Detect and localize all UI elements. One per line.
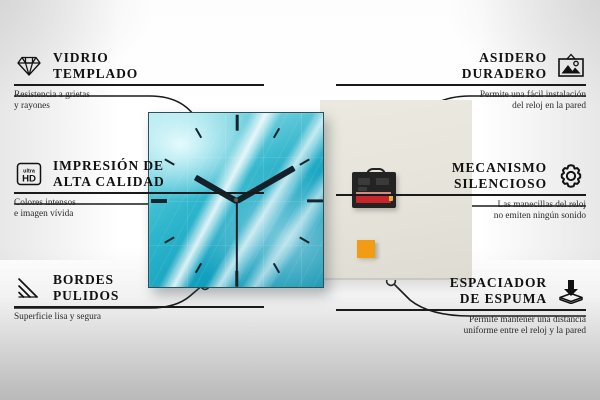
feature-title: IMPRESIÓN DEALTA CALIDAD [53, 158, 165, 189]
feature-rule [336, 309, 586, 311]
left-vignette [0, 0, 120, 260]
feature-title: ESPACIADORDE ESPUMA [450, 275, 547, 306]
feature-title: BORDESPULIDOS [53, 272, 119, 303]
feature-description: Permite mantener una distanciauniforme e… [336, 315, 586, 338]
feature-vidrio-templado: VIDRIOTEMPLADO Resistencia a grietasy ra… [14, 50, 264, 113]
gear-icon [556, 161, 586, 191]
down-arrow-pad-icon [556, 276, 586, 306]
feature-title: ASIDERODURADERO [462, 50, 547, 81]
feature-description: Resistencia a grietasy rayones [14, 90, 264, 113]
feature-asidero-duradero: ASIDERODURADERO Permite una fácil instal… [336, 50, 586, 113]
diamond-icon [14, 51, 44, 81]
feature-description: Superficie lisa y segura [14, 312, 264, 324]
feature-rule [14, 306, 264, 308]
framed-picture-icon [556, 51, 586, 81]
feature-description: Permite una fácil instalacióndel reloj e… [336, 90, 586, 113]
polished-edges-icon [14, 273, 44, 303]
infographic-canvas: VIDRIOTEMPLADO Resistencia a grietasy ra… [0, 0, 600, 400]
clock-tick [307, 199, 323, 202]
foam-spacer-shadow [375, 243, 381, 259]
ultra-hd-icon: ultra HD [14, 159, 44, 189]
feature-description: Colores intensose imagen vívida [14, 198, 264, 221]
svg-text:HD: HD [22, 173, 36, 184]
feature-rule [14, 84, 264, 86]
feature-description: Las manecillas del relojno emiten ningún… [336, 200, 586, 223]
feature-rule [14, 192, 264, 194]
clock-tick [235, 115, 238, 131]
feature-impresion-alta-calidad: ultra HD IMPRESIÓN DEALTA CALIDAD Colore… [14, 158, 264, 221]
feature-rule [336, 84, 586, 86]
feature-mecanismo-silencioso: MECANISMOSILENCIOSO Las manecillas del r… [336, 160, 586, 223]
foam-spacer-piece [357, 240, 375, 258]
feature-bordes-pulidos: BORDESPULIDOS Superficie lisa y segura [14, 272, 264, 323]
feature-espaciador-de-espuma: ESPACIADORDE ESPUMA Permite mantener una… [336, 275, 586, 338]
feature-rule [336, 194, 586, 196]
feature-title: VIDRIOTEMPLADO [53, 50, 138, 81]
feature-title: MECANISMOSILENCIOSO [452, 160, 547, 191]
